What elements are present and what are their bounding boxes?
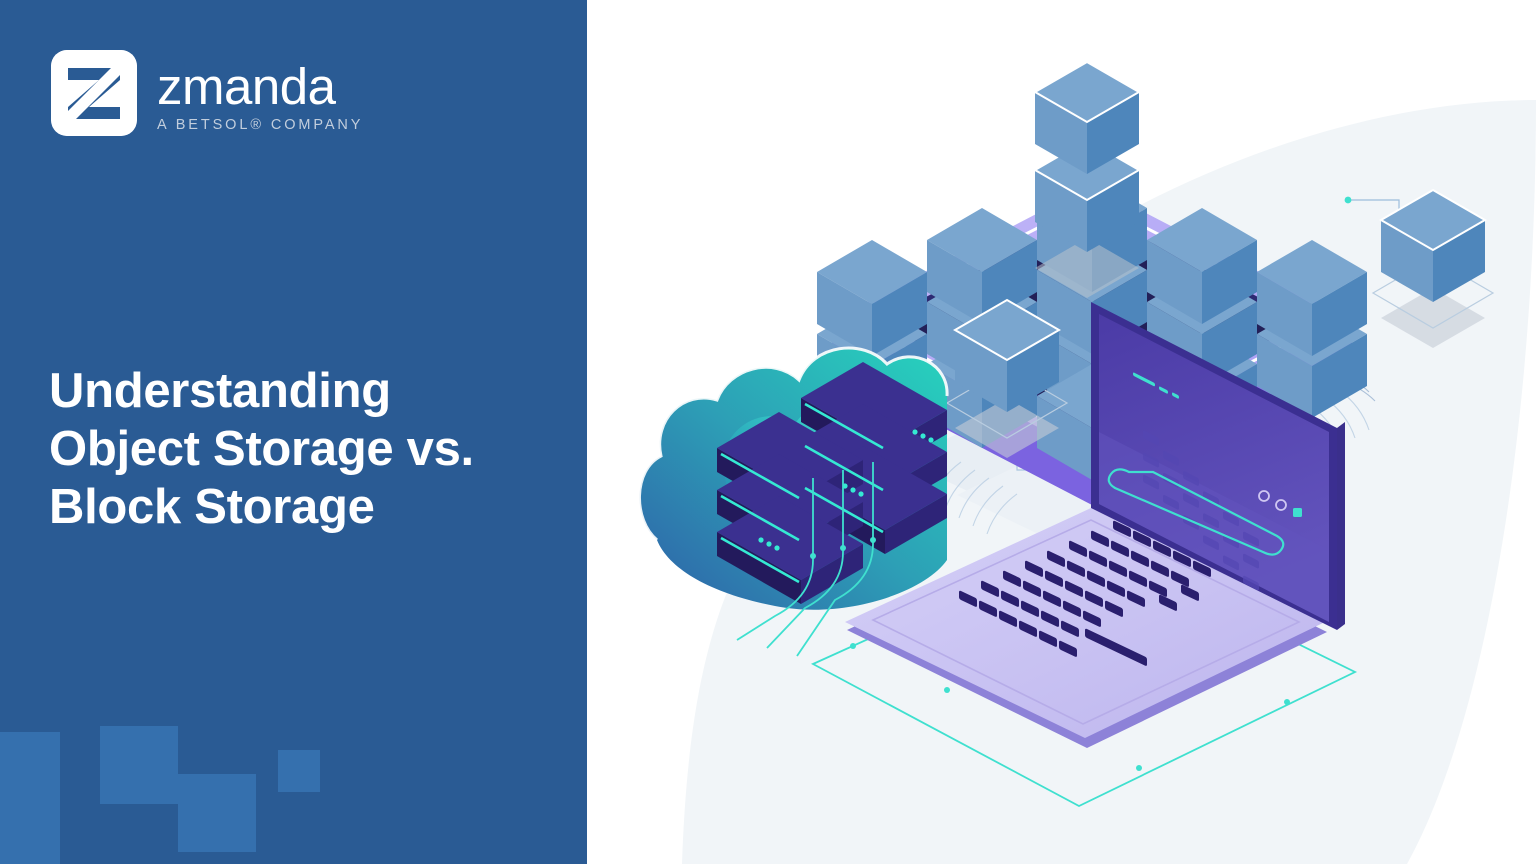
brand-tagline-text: A BETSOL® COMPANY [157,117,363,133]
zmanda-z-logo-icon [51,50,137,136]
brand-wordmark: zmanda A BETSOL® COMPANY [157,50,363,133]
cover-image: zmanda A BETSOL® COMPANY Understanding O… [0,0,1536,864]
decorative-square-2 [100,726,178,804]
decorative-square-1 [0,732,60,864]
decorative-square-3 [178,774,256,852]
floating-cube-right [1373,190,1493,348]
brand-logo[interactable]: zmanda A BETSOL® COMPANY [51,50,363,136]
decorative-square-4 [278,750,320,792]
cube [1035,62,1139,174]
brand-name: zmanda [157,60,363,114]
page-title: Understanding Object Storage vs. Block S… [49,362,549,536]
left-title-panel: zmanda A BETSOL® COMPANY Understanding O… [0,0,587,864]
floating-cube-stack [1035,62,1139,298]
cloud-with-servers [639,348,947,610]
title-line-1: Understanding [49,362,549,420]
illustration-area [587,0,1536,864]
brand-tagline: A BETSOL® COMPANY [157,117,363,133]
title-line-2: Object Storage vs. [49,420,549,478]
isometric-illustration [587,0,1536,864]
title-line-3: Block Storage [49,478,549,536]
